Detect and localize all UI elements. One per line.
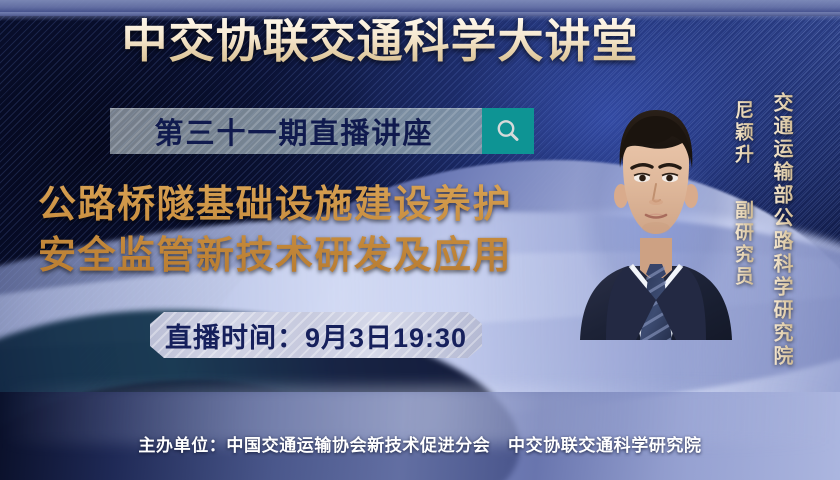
broadcast-time-label: 直播时间：9月3日19:30: [165, 316, 467, 355]
speaker-name: 尼颖升: [729, 100, 756, 166]
live-stream-poster: 中交协联交通科学大讲堂 中交协联交通科学大讲堂 第三十一期直播讲座 公路桥隧基础…: [0, 0, 840, 480]
search-button[interactable]: [482, 108, 534, 154]
organizer-footer: 主办单位：中国交通运输协会新技术促进分会 中交协联交通科学研究院: [0, 431, 840, 456]
lecture-headline-line1: 公路桥隧基础设施建设养护: [38, 180, 583, 231]
page-title: 中交协联交通科学大讲堂: [0, 18, 760, 64]
speaker-portrait: [576, 88, 736, 340]
lecture-headline: 公路桥隧基础设施建设养护 安全监管新技术研发及应用: [38, 180, 583, 282]
broadcast-time-banner: 直播时间：9月3日19:30: [150, 312, 482, 358]
speaker-organization: 交通运输部公路科学研究院: [767, 92, 796, 368]
speaker-role: 副研究员: [729, 200, 756, 288]
lecture-headline-line2: 安全监管新技术研发及应用: [38, 231, 583, 282]
search-icon: [493, 116, 523, 146]
episode-bar: 第三十一期直播讲座: [110, 108, 534, 154]
speaker-portrait-image: [576, 88, 736, 340]
episode-label: 第三十一期直播讲座: [110, 108, 482, 154]
